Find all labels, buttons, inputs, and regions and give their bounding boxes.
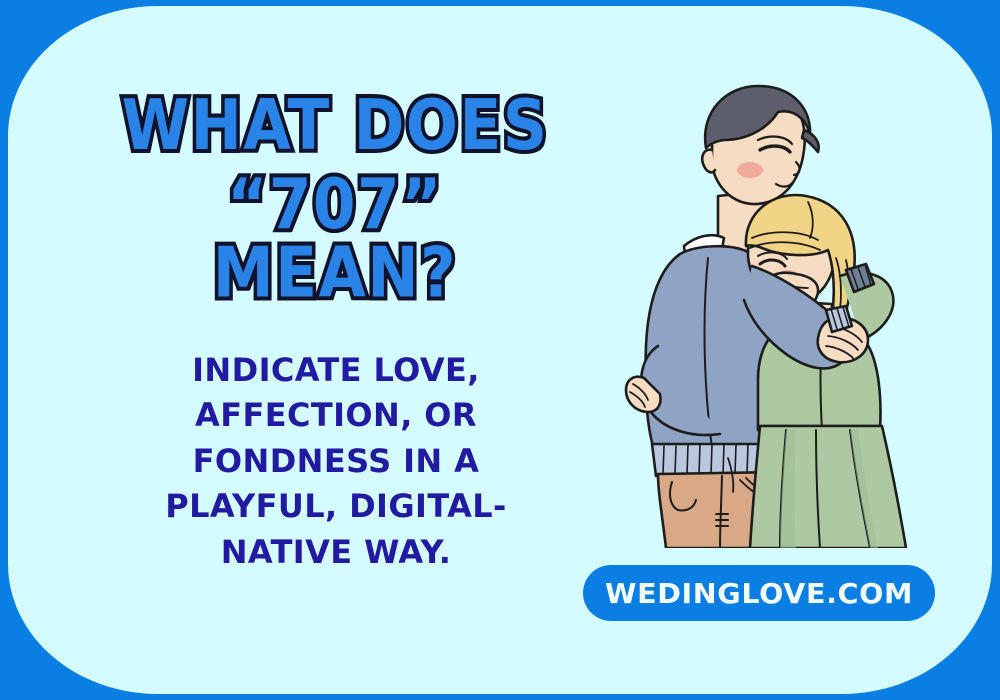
website-badge[interactable]: WEDINGLOVE.COM (583, 565, 935, 621)
body-copy-block: INDICATE LOVE, AFFECTION, OR FONDNESS IN… (118, 348, 554, 575)
headline-line-2: “707” MEAN? (95, 171, 574, 307)
body-line-2: AFFECTION, OR (118, 393, 554, 438)
website-badge-label: WEDINGLOVE.COM (605, 577, 913, 610)
body-line-3: FONDNESS IN A (118, 439, 554, 484)
body-line-4: PLAYFUL, DIGITAL- (118, 484, 554, 529)
couple-hugging-icon (600, 78, 950, 548)
headline-line-1: WHAT DOES (95, 92, 574, 160)
body-line-1: INDICATE LOVE, (118, 348, 554, 393)
headline-block: WHAT DOES “707” MEAN? (100, 92, 570, 288)
poster-canvas: WHAT DOES “707” MEAN? INDICATE LOVE, AFF… (0, 0, 1000, 700)
body-line-5: NATIVE WAY. (118, 530, 554, 575)
